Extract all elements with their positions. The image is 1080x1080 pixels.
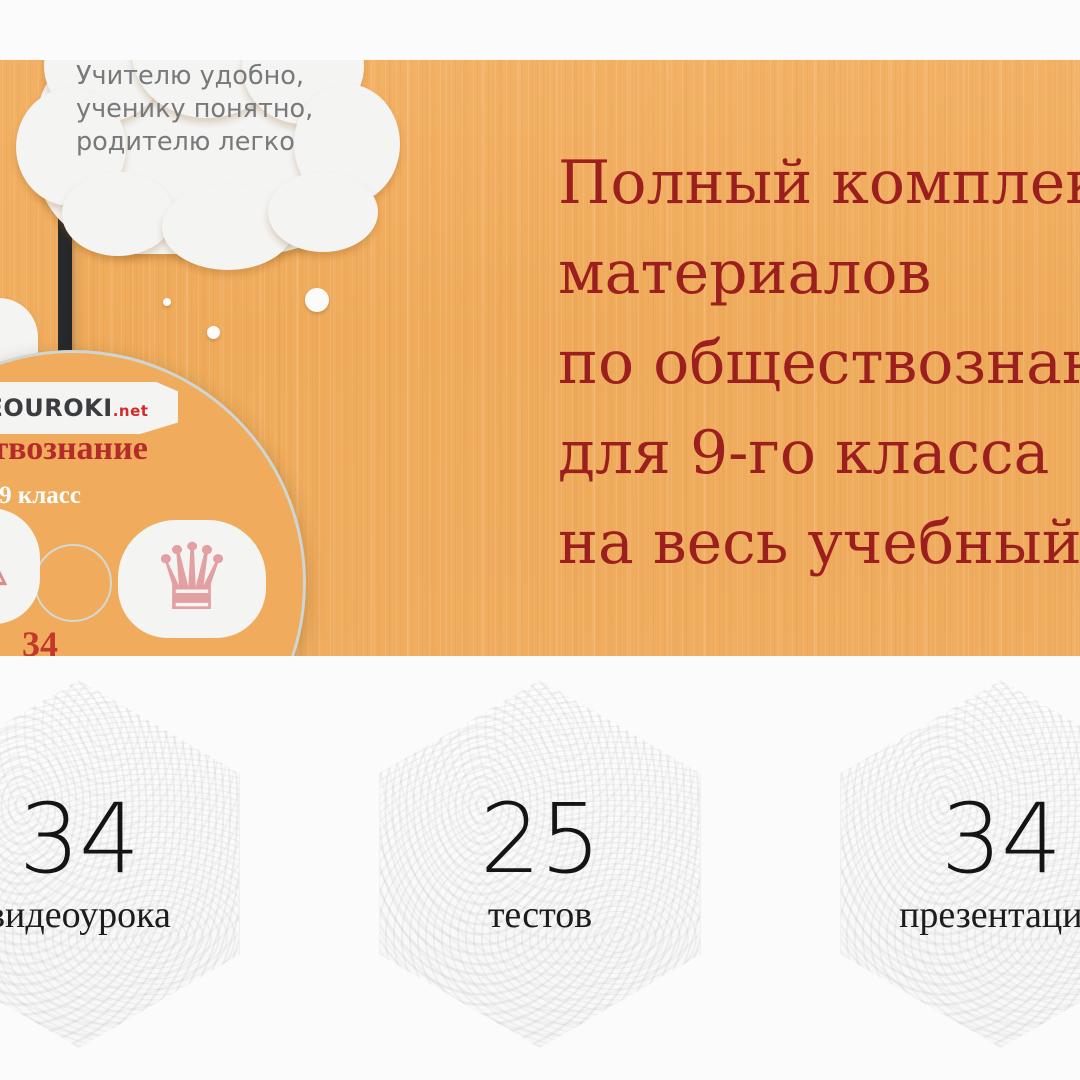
hex-stat-number: 34 [941, 790, 1061, 888]
speech-line-1: Учителю удобно, [76, 60, 344, 93]
logo-part2: EOUROKI [0, 394, 113, 422]
hex-stat-label: тестов [488, 892, 592, 938]
videouroki-logo-ribbon: VIDEOUROKI.net [0, 382, 178, 434]
disc-center-hole [34, 544, 112, 622]
hex-stats-row: 34 видеоурока 25 тестов 34 презентации [0, 656, 1080, 1080]
hex-stat-number: 25 [480, 790, 600, 888]
headline-line-1: Полный комплект [558, 138, 1080, 228]
bubble-lobe [268, 172, 378, 252]
speech-bubble-text: Учителю удобно, ученику понятно, родител… [76, 60, 344, 159]
disc-subject-title: ществознание [0, 430, 250, 468]
headline-line-5: на весь учебный год [558, 498, 1080, 588]
promo-headline: Полный комплект материалов по обществозн… [558, 138, 1080, 588]
hex-stat-number: 34 [19, 790, 139, 888]
headline-line-2: материалов [558, 228, 1080, 318]
headline-line-3: по обществознанию [558, 318, 1080, 408]
hex-stat-tile: 25 тестов [379, 680, 701, 1048]
headline-line-4: для 9-го класса [558, 408, 1080, 498]
hex-stat-tile: 34 видеоурока [0, 680, 240, 1048]
bubble-trail-dot [163, 298, 171, 306]
promo-banner: МО Учителю удобно, ученику понятно, роди… [0, 60, 1080, 656]
bubble-trail-dot [305, 288, 329, 312]
bubble-lobe [62, 172, 174, 256]
disc-grade-label: 9 класс [0, 482, 250, 510]
speech-line-3: родителю легко [76, 126, 344, 159]
hex-stat-tile: 34 презентации [840, 680, 1080, 1048]
speech-line-2: ученику понятно, [76, 93, 344, 126]
hex-stat-label: видеоурока [0, 892, 171, 938]
logo-tld: .net [113, 402, 149, 420]
russian-coat-of-arms-icon: ♛ [118, 528, 266, 628]
fgos-badge-icon: △ [0, 528, 40, 590]
videouroki-wordmark: VIDEOUROKI.net [0, 394, 148, 422]
bubble-trail-dot [207, 326, 220, 339]
speech-bubble: Учителю удобно, ученику понятно, родител… [36, 60, 366, 254]
hex-stat-label: презентации [899, 892, 1080, 938]
